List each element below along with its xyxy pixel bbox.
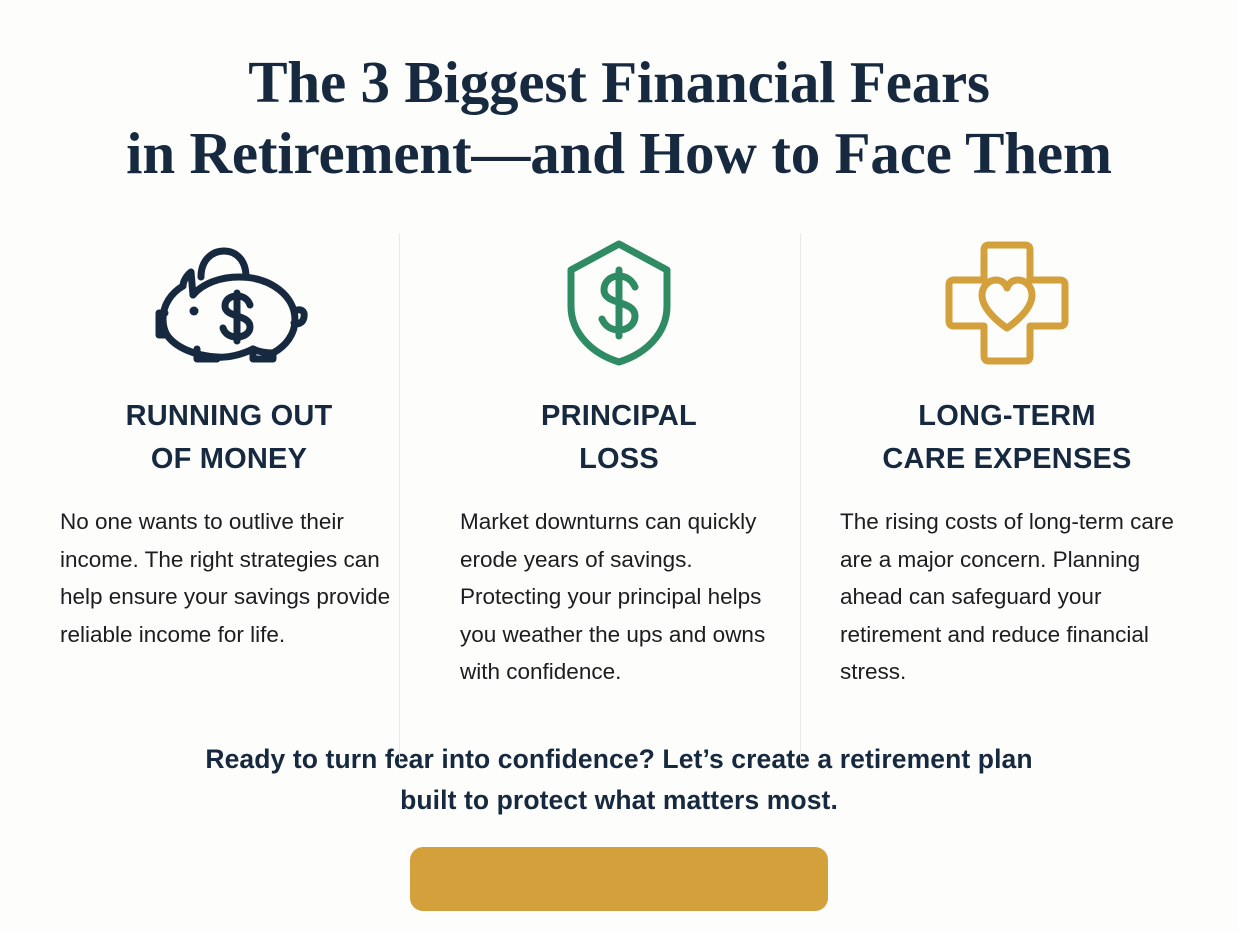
infographic-page: The 3 Biggest Financial Fears in Retirem…: [0, 0, 1238, 932]
column-body-text: Market downturns can quickly erode years…: [460, 503, 778, 691]
column-heading: RUNNING OUT OF MONEY: [126, 395, 333, 481]
page-title: The 3 Biggest Financial Fears in Retirem…: [39, 47, 1199, 189]
fear-column-principal-loss: PRINCIPAL LOSS Market downturns can quic…: [426, 233, 812, 691]
column-heading-line-1: RUNNING OUT: [126, 400, 333, 432]
column-divider-2: [800, 233, 801, 763]
fear-columns: RUNNING OUT OF MONEY No one wants to out…: [39, 233, 1199, 691]
piggy-bank-icon: [149, 233, 309, 373]
cta-line-1: Ready to turn fear into confidence? Let’…: [114, 739, 1124, 780]
column-heading: PRINCIPAL LOSS: [541, 395, 697, 481]
cta-button[interactable]: [410, 847, 828, 911]
column-heading-line-1: PRINCIPAL: [541, 400, 697, 432]
fear-column-long-term-care: LONG-TERM CARE EXPENSES The rising costs…: [812, 233, 1198, 691]
title-line-1: The 3 Biggest Financial Fears: [39, 47, 1199, 118]
column-heading: LONG-TERM CARE EXPENSES: [882, 395, 1131, 481]
column-heading-line-2: OF MONEY: [151, 443, 307, 475]
column-heading-line-2: LOSS: [579, 443, 659, 475]
medical-cross-heart-icon: [944, 233, 1070, 373]
fear-column-running-out-of-money: RUNNING OUT OF MONEY No one wants to out…: [40, 233, 426, 653]
column-divider-1: [399, 233, 400, 763]
column-body-text: No one wants to outlive their income. Th…: [60, 503, 398, 653]
call-to-action: Ready to turn fear into confidence? Let’…: [114, 739, 1124, 821]
column-heading-line-1: LONG-TERM: [918, 400, 1095, 432]
cta-line-2: built to protect what matters most.: [114, 780, 1124, 821]
title-line-2: in Retirement—and How to Face Them: [39, 118, 1199, 189]
column-heading-line-2: CARE EXPENSES: [882, 443, 1131, 475]
column-body-text: The rising costs of long-term care are a…: [840, 503, 1174, 691]
shield-dollar-icon: [563, 233, 675, 373]
